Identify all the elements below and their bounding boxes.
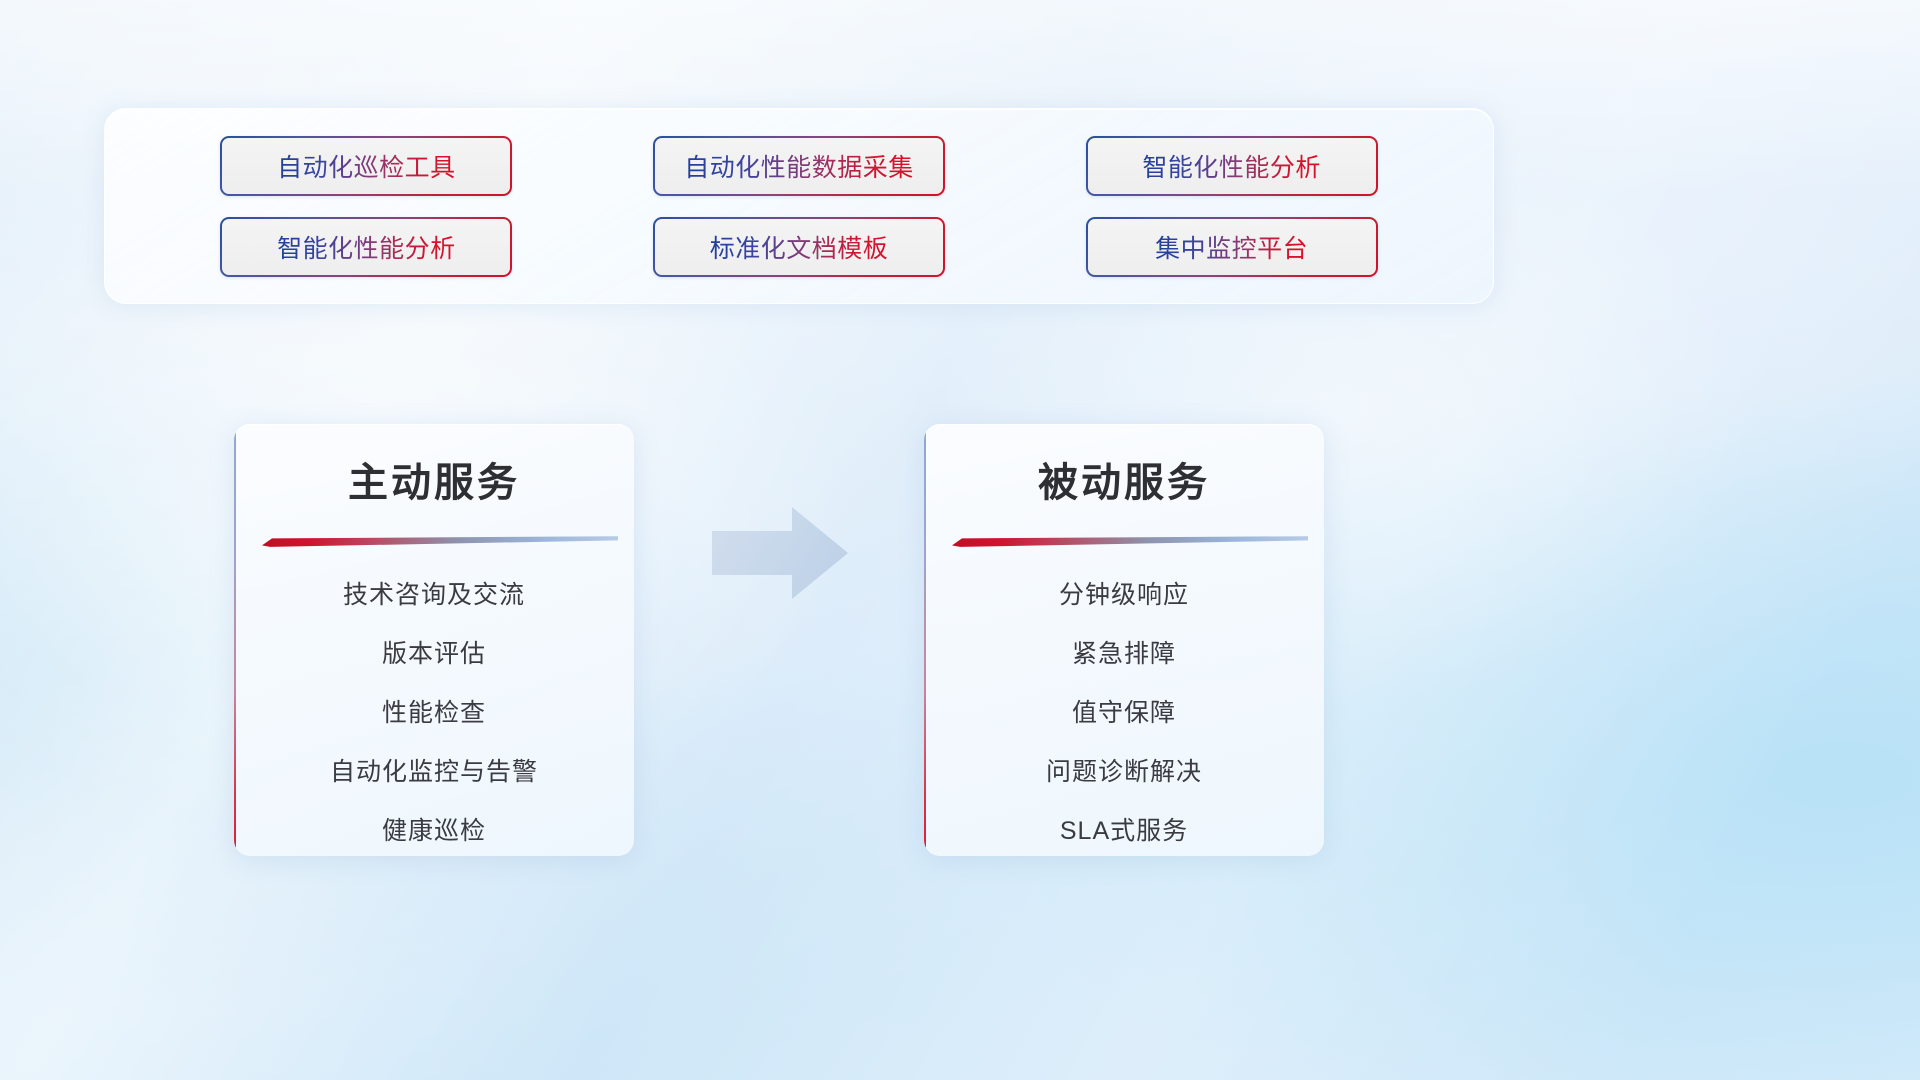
capability-pill-3[interactable]: 智能化性能分析 (1086, 136, 1378, 196)
pill-label: 自动化性能数据采集 (684, 148, 914, 184)
list-item[interactable]: 健康巡检 (234, 802, 634, 856)
card-divider-wrap (234, 526, 634, 560)
pill-surface: 智能化性能分析 (222, 219, 510, 275)
capability-pill-5[interactable]: 标准化文档模板 (653, 217, 945, 277)
list-item[interactable]: 值守保障 (924, 684, 1324, 743)
capability-pills-panel: 自动化巡检工具 自动化性能数据采集 智能化性能分析 智能化性能分析 标准化文档模… (104, 108, 1494, 304)
pill-surface: 自动化性能数据采集 (655, 138, 943, 194)
list-item[interactable]: 自动化监控与告警 (234, 743, 634, 802)
pill-label: 智能化性能分析 (1142, 148, 1321, 184)
list-item[interactable]: 紧急排障 (924, 625, 1324, 684)
pill-label: 集中监控平台 (1155, 229, 1308, 265)
pill-surface: 自动化巡检工具 (222, 138, 510, 194)
card-divider-wrap (924, 526, 1324, 560)
list-item[interactable]: 分钟级响应 (924, 566, 1324, 625)
capability-pill-4[interactable]: 智能化性能分析 (220, 217, 512, 277)
list-item[interactable]: 技术咨询及交流 (234, 566, 634, 625)
service-item-list: 技术咨询及交流 版本评估 性能检查 自动化监控与告警 健康巡检 (234, 566, 634, 856)
pill-label: 自动化巡检工具 (277, 148, 456, 184)
service-card-passive: 被动服务 (924, 424, 1324, 856)
pill-label: 智能化性能分析 (277, 229, 456, 265)
pill-surface: 标准化文档模板 (655, 219, 943, 275)
pill-surface: 集中监控平台 (1088, 219, 1376, 275)
card-title: 被动服务 (924, 450, 1324, 508)
pill-label: 标准化文档模板 (710, 229, 889, 265)
pill-grid: 自动化巡检工具 自动化性能数据采集 智能化性能分析 智能化性能分析 标准化文档模… (105, 109, 1493, 303)
capability-pill-1[interactable]: 自动化巡检工具 (220, 136, 512, 196)
card-body: 被动服务 (924, 424, 1324, 856)
service-item-list: 分钟级响应 紧急排障 值守保障 问题诊断解决 SLA式服务 (924, 566, 1324, 856)
list-item[interactable]: 问题诊断解决 (924, 743, 1324, 802)
pill-surface: 智能化性能分析 (1088, 138, 1376, 194)
card-body: 主动服务 (234, 424, 634, 856)
card-title: 主动服务 (234, 450, 634, 508)
list-item[interactable]: SLA式服务 (924, 802, 1324, 856)
right-arrow-icon (710, 503, 850, 603)
capability-pill-6[interactable]: 集中监控平台 (1086, 217, 1378, 277)
capability-pill-2[interactable]: 自动化性能数据采集 (653, 136, 945, 196)
card-divider (262, 536, 618, 547)
card-divider (952, 536, 1308, 547)
service-card-active: 主动服务 (234, 424, 634, 856)
list-item[interactable]: 性能检查 (234, 684, 634, 743)
list-item[interactable]: 版本评估 (234, 625, 634, 684)
